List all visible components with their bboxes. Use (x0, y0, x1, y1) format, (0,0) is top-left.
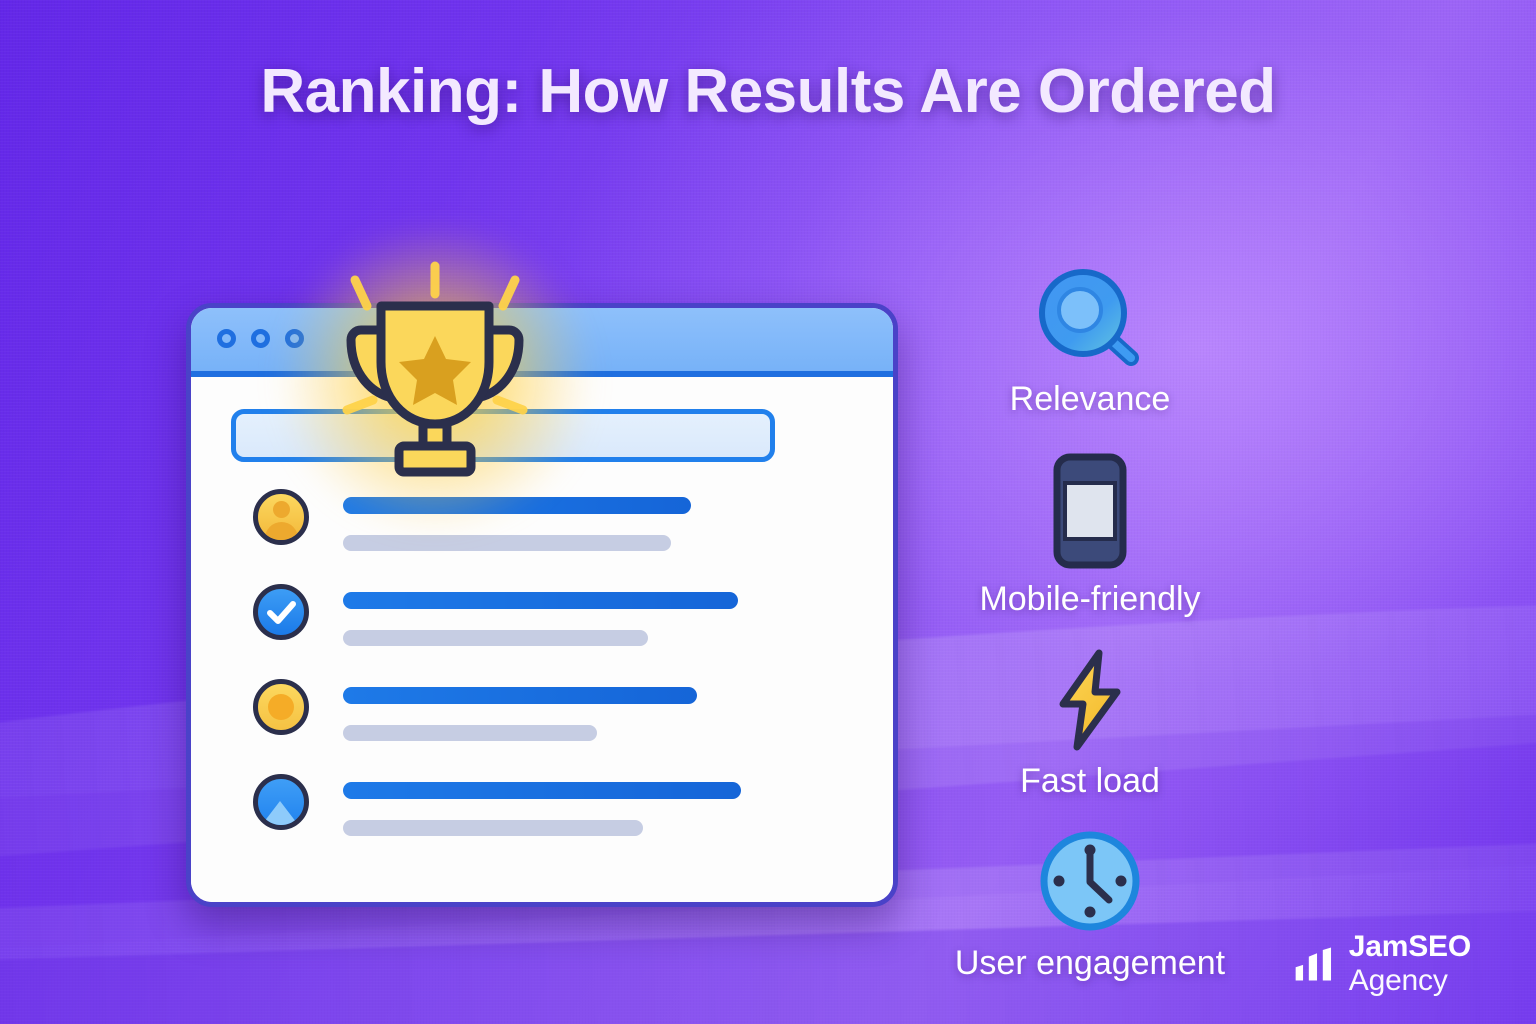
page-title: Ranking: How Results Are Ordered (0, 56, 1536, 127)
window-dot-1-icon[interactable] (217, 329, 236, 348)
feature-mobile-friendly[interactable]: Mobile-friendly (940, 452, 1240, 619)
result-snippet-bar (343, 820, 643, 836)
result-snippet-bar (343, 535, 671, 551)
image-circle-icon (253, 774, 309, 830)
window-dot-2-icon[interactable] (251, 329, 270, 348)
feature-relevance[interactable]: Relevance (940, 268, 1240, 419)
result-row[interactable] (191, 574, 893, 669)
magnifier-icon (1035, 268, 1145, 370)
result-snippet-bar (343, 630, 648, 646)
brand-suffix: Agency (1349, 964, 1448, 997)
brand-logo-text: JamSEO Agency (1349, 930, 1536, 998)
lightning-bolt-icon (1047, 648, 1133, 752)
feature-label: Relevance (940, 380, 1240, 419)
brand-name: JamSEO (1349, 930, 1471, 963)
feature-user-engagement[interactable]: User engagement (940, 828, 1240, 983)
feature-label: Fast load (940, 762, 1240, 801)
feature-fast-load[interactable]: Fast load (940, 648, 1240, 801)
infographic-canvas: Ranking: How Results Are Ordered (0, 0, 1536, 1024)
user-avatar-icon (253, 489, 309, 545)
bar-chart-logo-mark (1294, 942, 1337, 986)
result-row[interactable] (191, 669, 893, 764)
result-snippet-bar (343, 725, 597, 741)
trophy-icon (325, 258, 545, 488)
check-circle-icon (253, 584, 309, 640)
brand-logo[interactable]: JamSEO Agency (1294, 930, 1536, 998)
result-row[interactable] (191, 764, 893, 859)
result-row[interactable] (191, 479, 893, 574)
results-list (191, 479, 893, 859)
feature-label: User engagement (940, 944, 1240, 983)
feature-label: Mobile-friendly (940, 580, 1240, 619)
result-title-bar (343, 782, 741, 799)
mobile-phone-icon (1051, 452, 1129, 570)
clock-icon (1037, 828, 1143, 934)
result-title-bar (343, 687, 697, 704)
trophy-badge (325, 258, 545, 488)
dot-circle-icon (253, 679, 309, 735)
result-title-bar (343, 592, 738, 609)
